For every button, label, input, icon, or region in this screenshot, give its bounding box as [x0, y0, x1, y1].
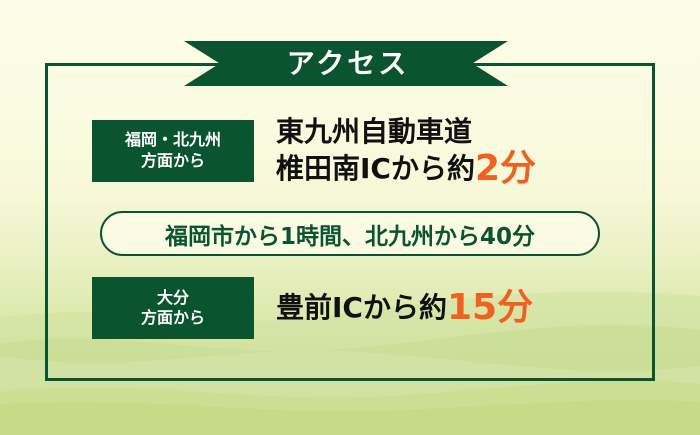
travel-time-pill: 福岡市から1時間、北九州から40分	[100, 211, 600, 256]
direction-tag-oita: 大分 方面から	[92, 277, 254, 339]
route-line-1-duration: 15分	[447, 287, 533, 328]
banner-title: アクセス	[283, 50, 410, 78]
travel-time-pill-text: 福岡市から1時間、北九州から40分	[165, 217, 535, 251]
section-banner: アクセス	[184, 41, 508, 86]
direction-tag-line-1: 大分	[157, 288, 189, 308]
route-line-1: 豊前ICから約15分	[276, 290, 533, 327]
direction-tag-line-2: 方面から	[141, 151, 205, 171]
direction-tag-line-2: 方面から	[141, 308, 205, 328]
route-line-1-prefix: 豊前ICから約	[276, 291, 447, 324]
route-line-1: 東九州自動車道	[276, 114, 536, 151]
direction-tag-line-1: 福岡・北九州	[125, 130, 221, 150]
route-line-2-duration: 2分	[475, 148, 536, 189]
route-line-2-prefix: 椎田南ICから約	[276, 152, 475, 185]
access-info-card: アクセス 福岡・北九州 方面から 東九州自動車道 椎田南ICから約2分 福岡市か…	[0, 0, 700, 435]
route-line-2: 椎田南ICから約2分	[276, 151, 536, 188]
direction-tag-fukuoka: 福岡・北九州 方面から	[92, 120, 254, 182]
route-text-oita: 豊前ICから約15分	[276, 290, 533, 327]
access-row-fukuoka: 福岡・北九州 方面から 東九州自動車道 椎田南ICから約2分	[92, 114, 536, 188]
access-row-oita: 大分 方面から 豊前ICから約15分	[92, 277, 533, 339]
route-text-fukuoka: 東九州自動車道 椎田南ICから約2分	[276, 114, 536, 188]
